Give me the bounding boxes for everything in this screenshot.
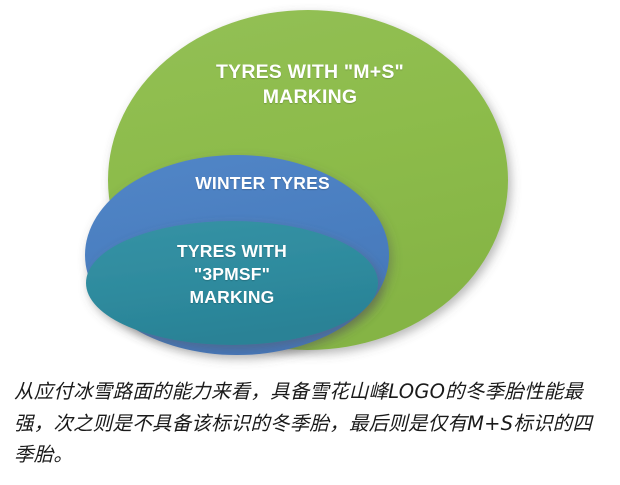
venn-diagram-page: TYRES WITH "M+S" MARKING WINTER TYRES TY… bbox=[0, 0, 620, 485]
venn-diagram: TYRES WITH "M+S" MARKING WINTER TYRES TY… bbox=[0, 0, 620, 372]
venn-shapes bbox=[0, 0, 620, 372]
caption-text: 从应付冰雪路面的能力来看，具备雪花山峰LOGO的冬季胎性能最强，次之则是不具备该… bbox=[0, 376, 620, 471]
inner-ellipse-shape bbox=[86, 221, 378, 345]
